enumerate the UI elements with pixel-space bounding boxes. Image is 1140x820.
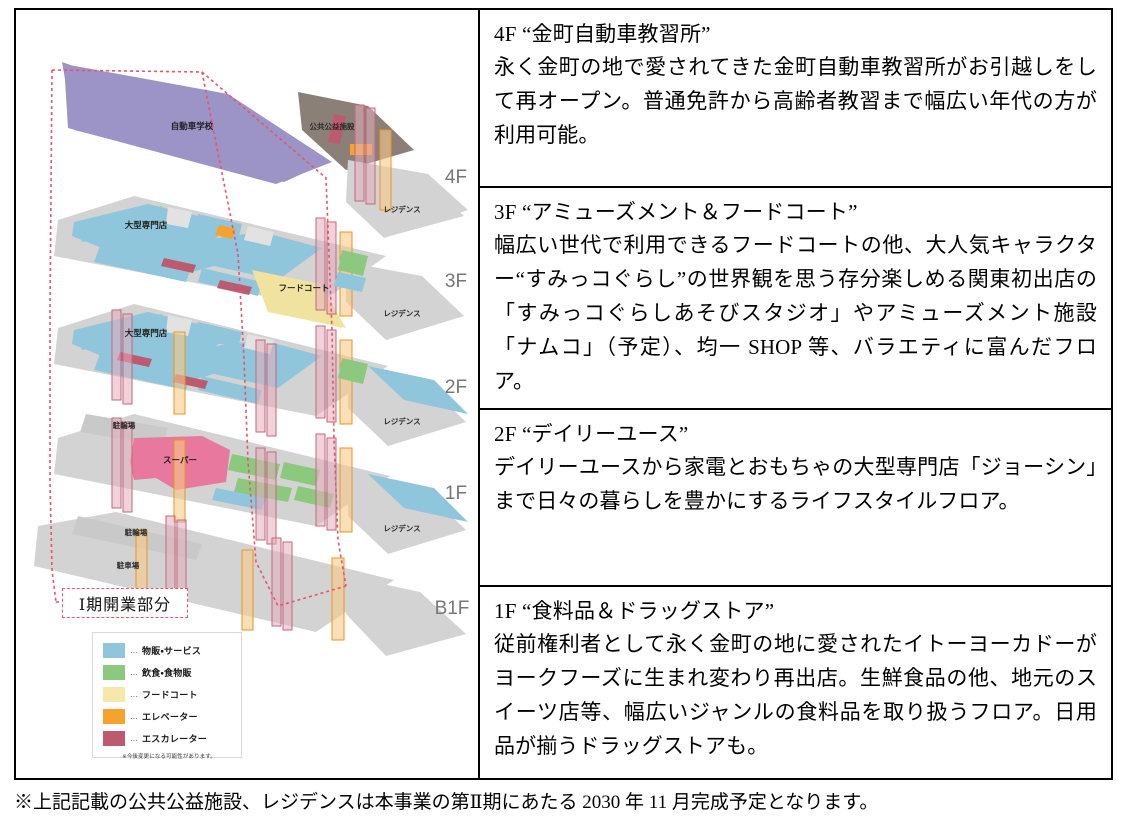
floor-body-1f: 従前権利者として永く金町の地に愛されたイトーヨーカドーがヨークフーズに生まれ変わ… (494, 627, 1097, 763)
floor-tag-1f: 1F (445, 483, 467, 504)
legend-item: … エレベーター (103, 707, 235, 726)
floor-guide-table: .slab { fill:#d3d3d3; } .slab2 { fill:#c… (14, 8, 1113, 780)
legend-label-escalator: エスカレーター (142, 732, 207, 745)
floor-row-1f: 1F “食料品＆ドラッグストア” 従前権利者として永く金町の地に愛されたイトーヨ… (480, 587, 1111, 778)
legend-swatch-retail (103, 643, 125, 658)
legend-dots: … (125, 734, 142, 743)
plan-label-residence-1f: レジデンス (383, 523, 420, 533)
plan-label-large-store-3f: 大型専門店 (125, 220, 168, 230)
page-root: .slab { fill:#d3d3d3; } .slab2 { fill:#c… (0, 0, 1140, 820)
plan-label-residence-2f: レジデンス (383, 416, 420, 426)
plan-label-bicycle-parking-b1: 駐輪場 (124, 527, 148, 537)
plan-label-car-parking: 駐車場 (116, 560, 140, 570)
floor-heading-2f: 2F “デイリーユース” (494, 419, 1097, 450)
floor-row-4f: 4F “金町自動車教習所” 永く金町の地で愛されてきた金町自動車教習所がお引越し… (480, 10, 1111, 188)
plan-label-residence-4f: レジデンス (383, 204, 420, 214)
phase-one-label: Ⅰ期開業部分 (62, 588, 188, 618)
floor-body-2f: デイリーユースから家電とおもちゃの大型専門店「ジョーシン」まで日々の暮らしを豊か… (494, 450, 1097, 518)
floor-tag-4f: 4F (445, 167, 467, 188)
footer-note: ※上記記載の公共公益施設、レジデンスは本事業の第Ⅱ期にあたる 2030 年 11… (14, 790, 1114, 816)
phase-one-label-text: Ⅰ期開業部分 (79, 591, 171, 615)
legend-item: … 物販・サービス (103, 641, 235, 660)
floor-row-3f: 3F “アミューズメント＆フードコート” 幅広い世代で利用できるフードコートの他… (480, 188, 1111, 410)
floor-tag-3f: 3F (445, 271, 467, 292)
plan-label-large-store-2f: 大型専門店 (125, 328, 168, 338)
legend-item: … フードコート (103, 685, 235, 704)
plan-label-driving-school: 自動車学校 (171, 121, 214, 131)
floor-body-3f: 幅広い世代で利用できるフードコートの他、大人気キャラクター“すみっコぐらし”の世… (494, 228, 1097, 398)
legend-disclaimer: ※今後変更になる可能性があります。 (103, 752, 235, 760)
floor-descriptions-cell: 4F “金町自動車教習所” 永く金町の地で愛されてきた金町自動車教習所がお引越し… (480, 10, 1111, 778)
floor-heading-4f: 4F “金町自動車教習所” (494, 19, 1097, 50)
legend-dots: … (125, 646, 142, 655)
plan-label-residence-3f: レジデンス (383, 308, 420, 318)
legend: … 物販・サービス … 飲食・食物販 … フードコート … エレベーター (92, 632, 242, 758)
plan-label-supermarket: スーパー (163, 455, 197, 465)
legend-label-food: 飲食・食物販 (142, 666, 192, 679)
floor-row-2f: 2F “デイリーユース” デイリーユースから家電とおもちゃの大型専門店「ジョーシ… (480, 410, 1111, 587)
floor-heading-3f: 3F “アミューズメント＆フードコート” (494, 197, 1097, 228)
isometric-floor-stack-svg: .slab { fill:#d3d3d3; } .slab2 { fill:#c… (16, 10, 478, 778)
legend-item: … エスカレーター (103, 729, 235, 748)
legend-label-retail: 物販・サービス (142, 644, 201, 657)
legend-swatch-food-court (103, 687, 125, 702)
legend-label-elevator: エレベーター (142, 710, 198, 723)
legend-swatch-food (103, 665, 125, 680)
plan-label-bicycle-parking-1f: 駐輪場 (112, 420, 136, 430)
plan-label-food-court: フードコート (278, 283, 329, 293)
legend-swatch-escalator (103, 731, 125, 746)
legend-swatch-elevator (103, 709, 125, 724)
floor-tag-2f: 2F (445, 377, 467, 398)
legend-dots: … (125, 712, 142, 721)
legend-label-food-court: フードコート (142, 688, 198, 701)
floor-body-4f: 永く金町の地で愛されてきた金町自動車教習所がお引越しをして再オープン。普通免許か… (494, 50, 1097, 152)
legend-dots: … (125, 690, 142, 699)
plan-label-public-facility: 公共公益施設 (310, 121, 355, 131)
floor-heading-1f: 1F “食料品＆ドラッグストア” (494, 596, 1097, 627)
legend-dots: … (125, 668, 142, 677)
legend-item: … 飲食・食物販 (103, 663, 235, 682)
building-diagram-cell: .slab { fill:#d3d3d3; } .slab2 { fill:#c… (16, 10, 480, 778)
floor-tag-b1f: B1F (435, 598, 470, 619)
